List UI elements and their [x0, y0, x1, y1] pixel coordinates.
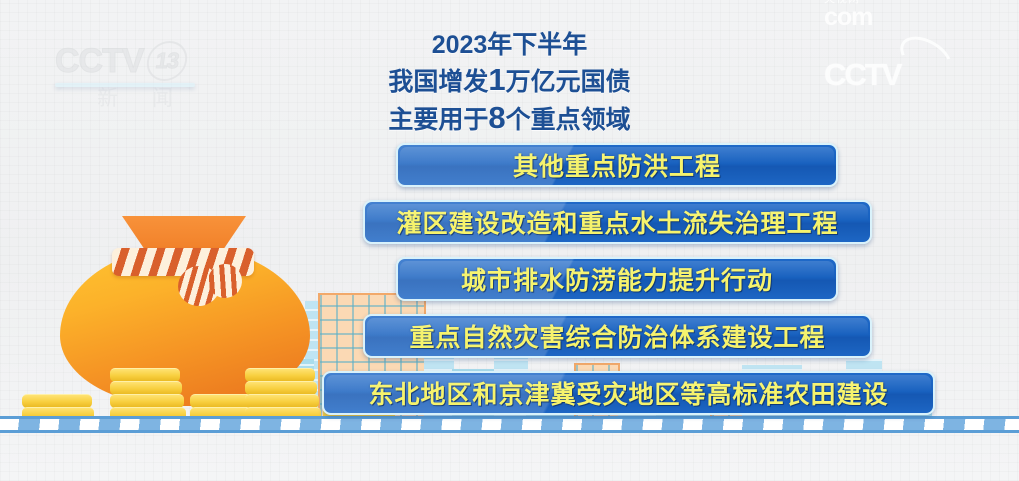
category-bar-5[interactable]: 东北地区和京津冀受灾地区等高标准农田建设 [322, 371, 935, 415]
headline-line-3-suffix: 个重点领域 [506, 106, 631, 134]
category-bar-4[interactable]: 重点自然灾害综合防治体系建设工程 [363, 314, 872, 358]
headline-line-1: 2023年下半年 [0, 30, 1019, 61]
category-bar-1[interactable]: 其他重点防洪工程 [396, 143, 838, 187]
headline-line-2: 我国增发1万亿元国债 [0, 61, 1019, 99]
coin-stack [110, 369, 186, 421]
page-title: 2023年下半年 我国增发1万亿元国债 主要用于8个重点领域 [0, 30, 1019, 138]
headline-line-3: 主要用于8个重点领域 [0, 99, 1019, 137]
category-bar-label: 灌区建设改造和重点水土流失治理工程 [396, 204, 838, 240]
cctvcom-right: 央视网 com [824, 0, 872, 30]
headline-count: 8 [488, 100, 505, 135]
category-bar-label: 城市排水防涝能力提升行动 [461, 261, 773, 297]
ground-strip [0, 416, 1019, 433]
headline-line-2-prefix: 我国增发 [388, 68, 488, 96]
headline-line-2-suffix: 万亿元国债 [506, 68, 631, 96]
category-bar-label: 东北地区和京津冀受灾地区等高标准农田建设 [368, 375, 888, 411]
cctvcom-com-text: com [824, 5, 872, 30]
category-bar-3[interactable]: 城市排水防涝能力提升行动 [396, 257, 838, 301]
category-bar-label: 重点自然灾害综合防治体系建设工程 [409, 318, 825, 354]
infographic-stage: CCTV 13 新 闻 CCTV 央视网 com 2023年下半年 我国增发1万… [0, 0, 1019, 481]
headline-line-3-prefix: 主要用于 [388, 106, 488, 134]
category-bar-label: 其他重点防洪工程 [513, 147, 721, 183]
headline-amount: 1 [488, 62, 505, 97]
coin-stack [245, 369, 321, 421]
category-bar-2[interactable]: 灌区建设改造和重点水土流失治理工程 [363, 200, 872, 244]
